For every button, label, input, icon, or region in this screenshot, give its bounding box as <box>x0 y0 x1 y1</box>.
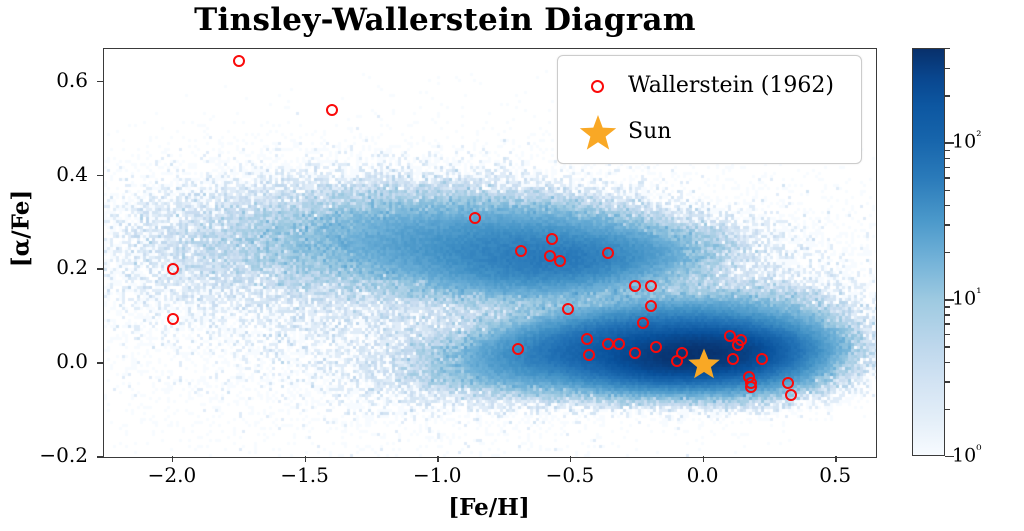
colorbar-minor-tick <box>945 167 950 168</box>
scatter-point-wallerstein <box>637 317 649 329</box>
colorbar-minor-tick <box>945 95 950 96</box>
y-axis-label: [α/Fe] <box>8 164 35 294</box>
colorbar-minor-tick <box>945 409 950 410</box>
colorbar-minor-tick <box>945 314 950 315</box>
y-tick-mark <box>97 81 103 83</box>
legend-entry-sun[interactable]: Sun <box>558 110 861 154</box>
scatter-point-wallerstein <box>515 245 527 257</box>
scatter-point-wallerstein <box>629 280 641 292</box>
colorbar-minor-tick <box>945 362 950 363</box>
colorbar-minor-tick <box>945 190 950 191</box>
y-tick-label: 0.6 <box>0 68 88 92</box>
x-tick-label: −0.5 <box>525 463 615 487</box>
x-tick-label: −2.0 <box>127 463 217 487</box>
x-axis-label: [Fe/H] <box>103 494 875 521</box>
colorbar-tick-label: 10¹ <box>952 286 981 309</box>
colorbar-minor-tick <box>945 68 950 69</box>
colorbar-minor-tick <box>945 224 950 225</box>
colorbar-minor-tick <box>945 323 950 324</box>
colorbar-minor-tick <box>945 306 950 307</box>
colorbar-minor-tick <box>945 48 950 49</box>
scatter-point-wallerstein <box>745 381 757 393</box>
scatter-point-wallerstein <box>167 313 179 325</box>
x-tick-mark <box>570 456 572 462</box>
scatter-point-wallerstein <box>581 333 593 345</box>
open-circle-icon <box>578 64 624 108</box>
legend[interactable]: Wallerstein (1962) Sun <box>557 55 862 164</box>
colorbar-minor-tick <box>945 346 950 347</box>
colorbar-minor-tick <box>945 150 950 151</box>
chart-figure: Tinsley-Wallerstein Diagram −2.0−1.5−1.0… <box>0 0 1024 531</box>
x-tick-label: −1.0 <box>392 463 482 487</box>
scatter-point-sun <box>687 347 721 384</box>
x-tick-label: −1.5 <box>260 463 350 487</box>
x-tick-mark <box>437 456 439 462</box>
colorbar-minor-tick <box>945 252 950 253</box>
star-icon <box>578 110 624 154</box>
scatter-point-wallerstein <box>645 300 657 312</box>
y-tick-mark <box>97 175 103 177</box>
scatter-point-wallerstein <box>727 353 739 365</box>
x-tick-mark <box>172 456 174 462</box>
scatter-point-wallerstein <box>756 353 768 365</box>
chart-title: Tinsley-Wallerstein Diagram <box>0 2 890 38</box>
scatter-point-wallerstein <box>650 341 662 353</box>
scatter-point-wallerstein <box>602 338 614 350</box>
legend-entry-wallerstein[interactable]: Wallerstein (1962) <box>558 64 861 108</box>
x-tick-mark <box>835 456 837 462</box>
colorbar-minor-tick <box>945 177 950 178</box>
x-tick-mark <box>305 456 307 462</box>
y-tick-mark <box>97 362 103 364</box>
colorbar-minor-tick <box>945 205 950 206</box>
scatter-point-wallerstein <box>326 104 338 116</box>
scatter-point-wallerstein <box>645 280 657 292</box>
colorbar-minor-tick <box>945 381 950 382</box>
scatter-point-wallerstein <box>629 347 641 359</box>
colorbar-tick-label: 10² <box>952 129 981 152</box>
scatter-point-wallerstein <box>512 343 524 355</box>
colorbar <box>912 48 945 456</box>
legend-label-sun: Sun <box>628 110 671 154</box>
colorbar-tick-label: 10⁰ <box>952 443 981 466</box>
colorbar-minor-tick <box>945 158 950 159</box>
x-tick-label: 0.0 <box>658 463 748 487</box>
y-tick-label: 0.0 <box>0 349 88 373</box>
x-tick-mark <box>703 456 705 462</box>
legend-label-wallerstein: Wallerstein (1962) <box>628 64 834 108</box>
x-tick-label: 0.5 <box>790 463 880 487</box>
colorbar-minor-tick <box>945 334 950 335</box>
scatter-point-wallerstein <box>602 247 614 259</box>
scatter-point-wallerstein <box>233 55 245 67</box>
y-tick-mark <box>97 268 103 270</box>
y-tick-label: −0.2 <box>0 443 88 467</box>
y-tick-mark <box>97 456 103 458</box>
